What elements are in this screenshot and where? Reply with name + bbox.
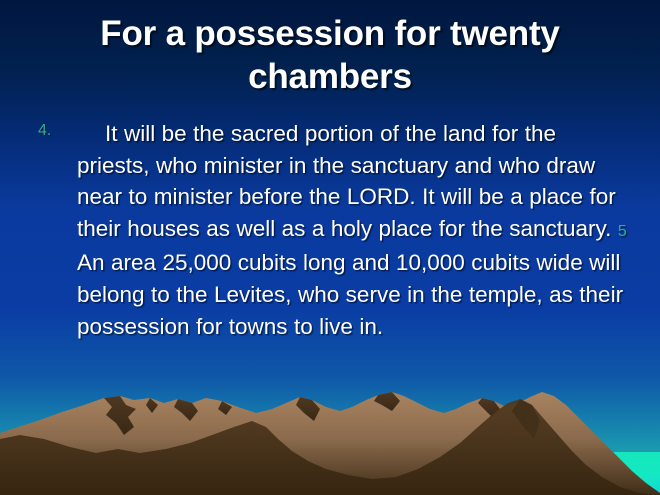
scripture-text-part-2: An area 25,000 cubits long and 10,000 cu… <box>77 250 623 338</box>
title-line-1: For a possession for twenty <box>28 12 632 55</box>
list-marker: 4. <box>38 122 51 140</box>
mountain-range-icon <box>0 365 660 495</box>
body-content: 4. It will be the sacred portion of the … <box>36 118 628 342</box>
title-line-2: chambers <box>28 55 632 98</box>
page-title: For a possession for twenty chambers <box>28 12 632 99</box>
scripture-paragraph: It will be the sacred portion of the lan… <box>77 118 628 342</box>
slide-canvas: For a possession for twenty chambers 4. … <box>0 0 660 495</box>
verse-number: 5 <box>618 223 627 240</box>
scripture-text-part-1: It will be the sacred portion of the lan… <box>77 121 618 241</box>
